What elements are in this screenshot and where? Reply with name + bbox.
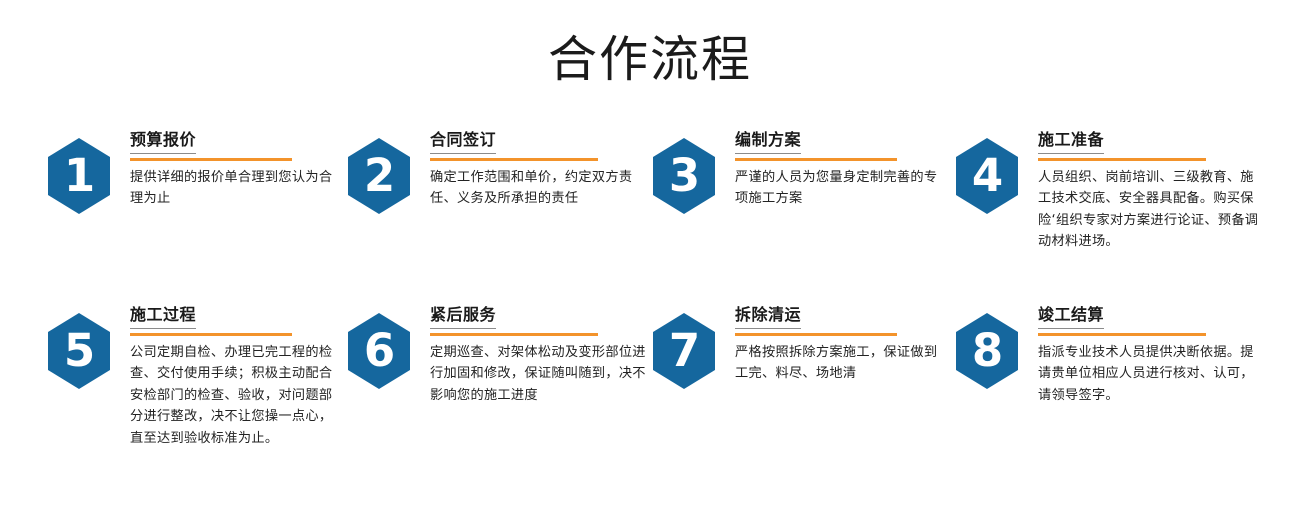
step-description: 定期巡查、对架体松动及变形部位进行加固和修改，保证随叫随到，决不影响您的施工进度 [430, 342, 648, 406]
step-text-6: 紧后服务 定期巡查、对架体松动及变形部位进行加固和修改，保证随叫随到，决不影响您… [430, 305, 648, 406]
step-number: 6 [364, 328, 394, 373]
step-item-7[interactable]: 7 拆除清运 严格按照拆除方案施工，保证做到工完、料尽、场地清 [653, 305, 948, 389]
accent-rule [735, 333, 897, 336]
hexagon-badge-8: 8 [956, 313, 1018, 389]
step-description: 人员组织、岗前培训、三级教育、施工技术交底、安全器具配备。购买保险‘组织专家对方… [1038, 167, 1266, 253]
step-number: 4 [972, 153, 1002, 198]
step-description: 严谨的人员为您量身定制完善的专项施工方案 [735, 167, 948, 210]
hexagon-icon: 4 [956, 138, 1018, 214]
step-text-3: 编制方案 严谨的人员为您量身定制完善的专项施工方案 [735, 130, 948, 210]
hexagon-icon: 7 [653, 313, 715, 389]
step-title: 紧后服务 [430, 305, 496, 329]
hexagon-badge-3: 3 [653, 138, 715, 214]
accent-rule [735, 158, 897, 161]
step-number: 7 [669, 328, 699, 373]
step-description: 指派专业技术人员提供决断依据。提请贵单位相应人员进行核对、认可，请领导签字。 [1038, 342, 1266, 406]
step-number: 2 [364, 153, 394, 198]
step-item-1[interactable]: 1 预算报价 提供详细的报价单合理到您认为合理为止 [48, 130, 343, 214]
accent-rule [430, 158, 598, 161]
page-title: 合作流程 [0, 26, 1300, 94]
step-description: 提供详细的报价单合理到您认为合理为止 [130, 167, 343, 210]
cooperation-process-infographic: 合作流程 1 预算报价 提供详细的报价单合理到您认为合理为止 [0, 0, 1300, 532]
hexagon-badge-1: 1 [48, 138, 110, 214]
accent-rule [130, 158, 292, 161]
step-text-8: 竣工结算 指派专业技术人员提供决断依据。提请贵单位相应人员进行核对、认可，请领导… [1038, 305, 1266, 406]
steps-row-2: 5 施工过程 公司定期自检、办理已完工程的检查、交付使用手续；积极主动配合安检部… [0, 305, 1300, 505]
step-title: 编制方案 [735, 130, 801, 154]
accent-rule [1038, 158, 1206, 161]
hexagon-badge-2: 2 [348, 138, 410, 214]
accent-rule [1038, 333, 1206, 336]
step-item-5[interactable]: 5 施工过程 公司定期自检、办理已完工程的检查、交付使用手续；积极主动配合安检部… [48, 305, 343, 449]
step-item-6[interactable]: 6 紧后服务 定期巡查、对架体松动及变形部位进行加固和修改，保证随叫随到，决不影… [348, 305, 648, 406]
accent-rule [130, 333, 292, 336]
hexagon-icon: 2 [348, 138, 410, 214]
hexagon-badge-5: 5 [48, 313, 110, 389]
hexagon-icon: 6 [348, 313, 410, 389]
step-item-8[interactable]: 8 竣工结算 指派专业技术人员提供决断依据。提请贵单位相应人员进行核对、认可，请… [956, 305, 1266, 406]
step-number: 5 [64, 328, 94, 373]
step-text-4: 施工准备 人员组织、岗前培训、三级教育、施工技术交底、安全器具配备。购买保险‘组… [1038, 130, 1266, 253]
step-text-1: 预算报价 提供详细的报价单合理到您认为合理为止 [130, 130, 343, 210]
step-item-4[interactable]: 4 施工准备 人员组织、岗前培训、三级教育、施工技术交底、安全器具配备。购买保险… [956, 130, 1266, 253]
step-text-5: 施工过程 公司定期自检、办理已完工程的检查、交付使用手续；积极主动配合安检部门的… [130, 305, 343, 449]
hexagon-badge-4: 4 [956, 138, 1018, 214]
hexagon-badge-6: 6 [348, 313, 410, 389]
step-title: 预算报价 [130, 130, 196, 154]
hexagon-badge-7: 7 [653, 313, 715, 389]
step-title: 竣工结算 [1038, 305, 1104, 329]
step-title: 合同签订 [430, 130, 496, 154]
hexagon-icon: 3 [653, 138, 715, 214]
step-item-3[interactable]: 3 编制方案 严谨的人员为您量身定制完善的专项施工方案 [653, 130, 948, 214]
steps-container: 1 预算报价 提供详细的报价单合理到您认为合理为止 2 合同签订 [0, 130, 1300, 505]
step-description: 确定工作范围和单价，约定双方责任、义务及所承担的责任 [430, 167, 648, 210]
step-number: 1 [64, 153, 94, 198]
step-number: 3 [669, 153, 699, 198]
steps-row-1: 1 预算报价 提供详细的报价单合理到您认为合理为止 2 合同签订 [0, 130, 1300, 305]
step-item-2[interactable]: 2 合同签订 确定工作范围和单价，约定双方责任、义务及所承担的责任 [348, 130, 648, 214]
hexagon-icon: 1 [48, 138, 110, 214]
hexagon-icon: 5 [48, 313, 110, 389]
hexagon-icon: 8 [956, 313, 1018, 389]
step-number: 8 [972, 328, 1002, 373]
step-text-7: 拆除清运 严格按照拆除方案施工，保证做到工完、料尽、场地清 [735, 305, 948, 385]
step-text-2: 合同签订 确定工作范围和单价，约定双方责任、义务及所承担的责任 [430, 130, 648, 210]
accent-rule [430, 333, 598, 336]
step-title: 拆除清运 [735, 305, 801, 329]
step-description: 公司定期自检、办理已完工程的检查、交付使用手续；积极主动配合安检部门的检查、验收… [130, 342, 343, 449]
step-description: 严格按照拆除方案施工，保证做到工完、料尽、场地清 [735, 342, 948, 385]
step-title: 施工过程 [130, 305, 196, 329]
step-title: 施工准备 [1038, 130, 1104, 154]
